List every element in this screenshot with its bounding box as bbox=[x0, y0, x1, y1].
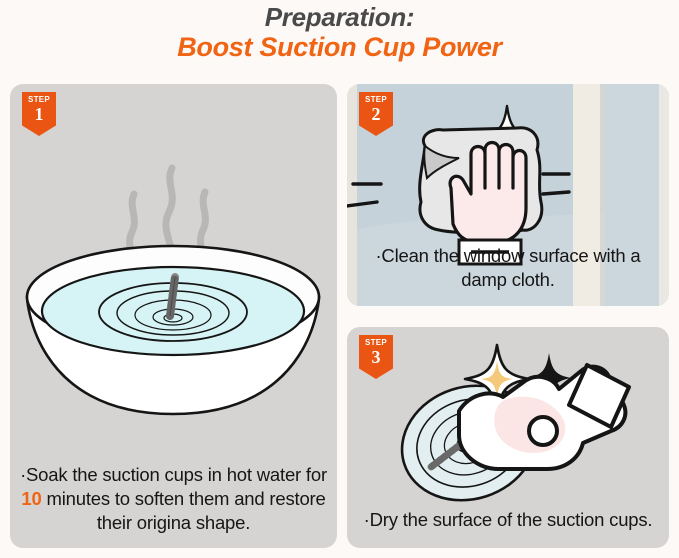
step-badge-number: 3 bbox=[359, 348, 393, 367]
title-line-preparation: Preparation: bbox=[0, 4, 679, 30]
step-badge-number: 1 bbox=[22, 105, 56, 124]
thumb bbox=[529, 417, 557, 445]
steps-container: STEP 1 ·Soak the suction cups in hot wat… bbox=[0, 84, 679, 558]
step-1-caption: ·Soak the suction cups in hot water for … bbox=[10, 463, 337, 535]
step-badge-number: 2 bbox=[359, 105, 393, 124]
step-panel-1: STEP 1 ·Soak the suction cups in hot wat… bbox=[10, 84, 337, 548]
screw-post bbox=[170, 277, 175, 316]
caption-text-part2: minutes to soften them and restore their… bbox=[42, 488, 326, 533]
title-line-boost-suction-cup-power: Boost Suction Cup Power bbox=[0, 34, 679, 61]
step-panel-3: STEP 3 ·Dry the surface of the suction c… bbox=[347, 327, 669, 548]
caption-highlight-minutes: 10 bbox=[21, 488, 41, 509]
page-title: Preparation: Boost Suction Cup Power bbox=[0, 0, 679, 61]
step-3-caption: ·Dry the surface of the suction cups. bbox=[347, 508, 669, 532]
caption-text-part1: ·Soak the suction cups in hot water for bbox=[20, 464, 327, 485]
step-panel-2: STEP 2 ·Clean the window surface with a … bbox=[347, 84, 669, 306]
step-2-caption: ·Clean the window surface with a damp cl… bbox=[347, 244, 669, 292]
